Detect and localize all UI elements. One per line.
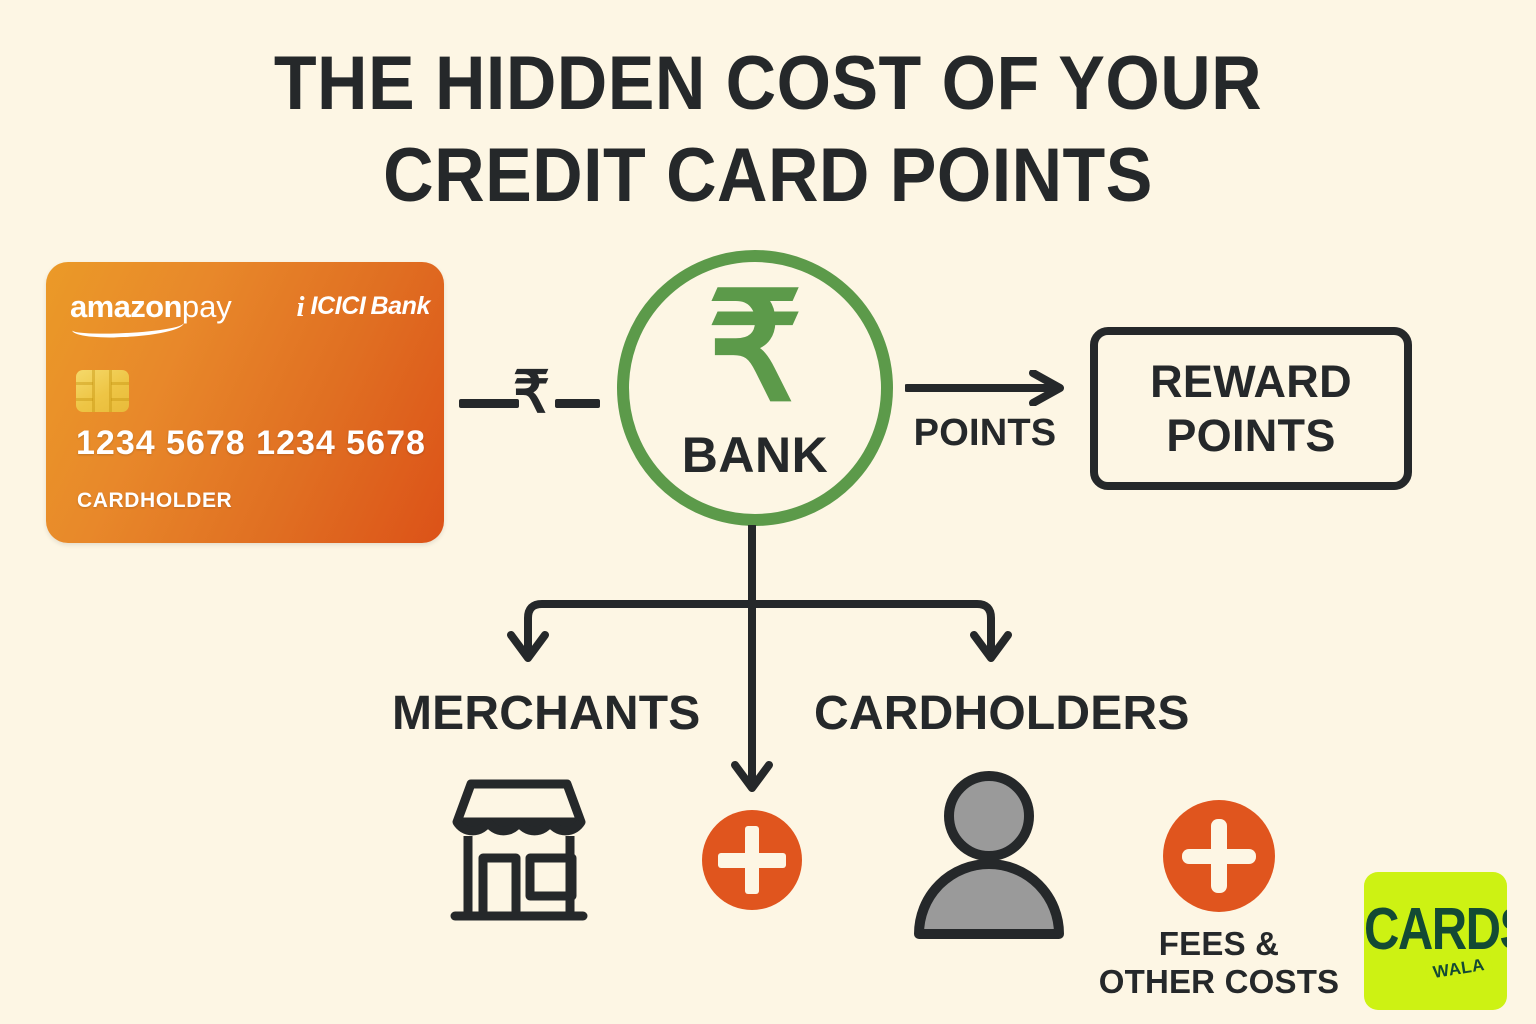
connector-line-right	[555, 399, 600, 408]
storefront-icon	[435, 770, 603, 938]
cardholders-label: CARDHOLDERS	[814, 687, 1190, 741]
bank-label: BANK	[617, 428, 893, 482]
merchants-label: MERCHANTS	[392, 687, 700, 741]
infographic-canvas: THE HIDDEN COST OF YOUR CREDIT CARD POIN…	[0, 0, 1536, 1024]
fees-line-1: FEES &	[1069, 925, 1369, 963]
card-logo-row: amazonpay i ICICIBank	[46, 290, 444, 334]
icici-wordmark: ICICIBank	[311, 292, 431, 321]
reward-points-line-1: REWARD	[1150, 355, 1352, 409]
card-holder-name: CARDHOLDER	[77, 489, 232, 513]
title-line-1: THE HIDDEN COST OF YOUR	[61, 46, 1474, 122]
emv-chip-icon	[76, 370, 129, 412]
icici-bank-word: Bank	[370, 292, 430, 320]
cardswala-logo: CARDS WALA	[1364, 872, 1507, 1010]
arrow-right-icon	[905, 370, 1070, 406]
points-flow-label: POINTS	[905, 412, 1065, 454]
fees-and-other-costs-label: FEES & OTHER COSTS	[1069, 925, 1369, 1001]
icici-bank-logo: i ICICIBank	[296, 292, 430, 321]
pay-word: pay	[182, 289, 232, 324]
connector-line-left	[459, 399, 519, 408]
rupee-symbol: ₹	[513, 362, 550, 424]
plus-icon-fees	[1163, 800, 1275, 912]
brand-name: CARDS	[1364, 898, 1507, 961]
money-flow-connector: ₹	[455, 378, 605, 434]
title-line-2: CREDIT CARD POINTS	[61, 138, 1474, 214]
amazon-smile-icon	[72, 314, 185, 339]
reward-points-box: REWARD POINTS	[1090, 327, 1412, 490]
right-branch-line	[752, 604, 991, 653]
page-title: THE HIDDEN COST OF YOUR CREDIT CARD POIN…	[61, 46, 1474, 214]
fees-line-2: OTHER COSTS	[1069, 963, 1369, 1001]
card-number: 1234 5678 1234 5678	[76, 424, 426, 462]
icici-name: ICICI	[311, 292, 366, 320]
plus-icon-center	[702, 810, 802, 910]
person-icon	[905, 768, 1073, 940]
amazon-pay-logo: amazonpay	[70, 290, 250, 336]
left-branch-line	[528, 604, 752, 653]
icici-i-mark-icon: i	[296, 293, 304, 321]
bank-rupee-icon: ₹	[617, 272, 893, 422]
reward-points-line-2: POINTS	[1166, 409, 1335, 463]
